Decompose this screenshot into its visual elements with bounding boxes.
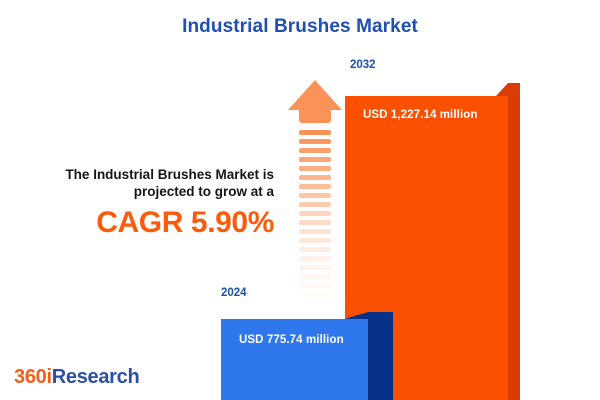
arrow-segment [299, 220, 331, 225]
arrow-segment [299, 157, 331, 162]
logo-mark-text: 360i [14, 366, 52, 388]
logo-word-text: Research [52, 366, 140, 388]
growth-arrow-icon [288, 80, 342, 298]
arrow-segment [299, 238, 331, 243]
annotation-text: The Industrial Brushes Market is project… [22, 166, 274, 200]
arrow-segment [299, 130, 331, 135]
arrow-segment [299, 292, 331, 297]
brand-logo[interactable]: 360iResearch [14, 366, 139, 389]
cagr-value: CAGR 5.90% [22, 206, 274, 240]
bar-2032-top-bevel [496, 83, 508, 96]
arrow-segment [299, 184, 331, 189]
annotation-line-1: The Industrial Brushes Market is [65, 167, 274, 182]
arrow-segment [299, 175, 331, 180]
bar-label-2032: 2032 [350, 59, 376, 71]
arrow-segment [299, 265, 331, 270]
arrow-segment [299, 229, 331, 234]
arrow-segment [299, 256, 331, 261]
arrow-segment [299, 274, 331, 279]
bar-2032-value-label: USD 1,227.14 million [363, 109, 478, 121]
arrow-segment [299, 283, 331, 288]
arrow-segment [299, 139, 331, 144]
arrow-segment [299, 166, 331, 171]
bar-2024[interactable]: USD 775.74 million [221, 312, 393, 400]
bar-2032-side-face [508, 83, 520, 400]
annotation-line-2: projected to grow at a [134, 184, 274, 199]
bar-2024-side-face [368, 312, 393, 400]
annotation-block: The Industrial Brushes Market is project… [22, 166, 274, 240]
page-title: Industrial Brushes Market [0, 16, 600, 38]
arrow-head-icon [288, 80, 342, 110]
bar-2024-front-face: USD 775.74 million [221, 319, 368, 400]
arrow-segment [299, 247, 331, 252]
arrow-segment [299, 193, 331, 198]
arrow-segment [299, 202, 331, 207]
bar-label-2024: 2024 [221, 287, 247, 299]
infographic-canvas: Industrial Brushes Market The Industrial… [0, 0, 600, 400]
bar-2024-value-label: USD 775.74 million [239, 334, 344, 346]
arrow-segment [299, 211, 331, 216]
arrow-neck-shape [299, 109, 331, 123]
arrow-segment [299, 148, 331, 153]
